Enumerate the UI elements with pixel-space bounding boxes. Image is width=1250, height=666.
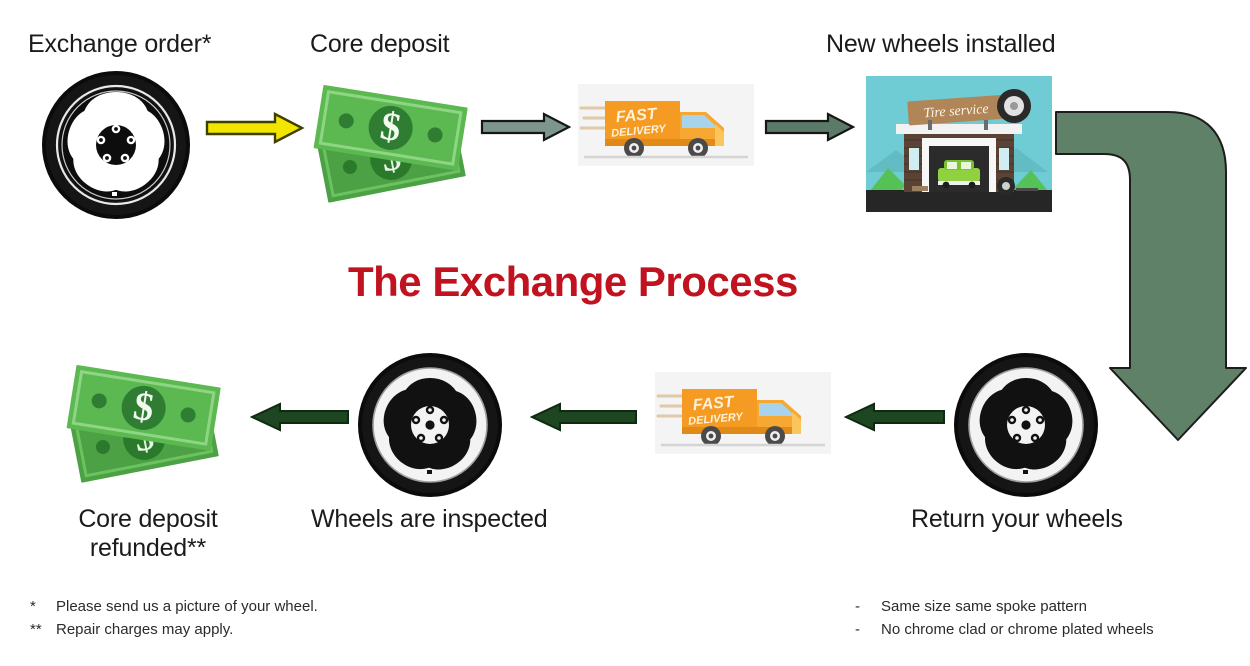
step-label-core-deposit-refunded-line2: refunded**: [38, 534, 258, 563]
exchange-process-diagram: Exchange order* Core deposit New wheels …: [0, 0, 1250, 666]
footnote-left-2-text: Repair charges may apply.: [56, 618, 233, 641]
money-icon: $ $: [305, 72, 477, 209]
step-label-return-your-wheels: Return your wheels: [911, 505, 1123, 534]
footnote-right-2-mark: -: [855, 618, 881, 641]
step-label-core-deposit-refunded-line1: Core deposit: [38, 505, 258, 534]
footnote-right-2-text: No chrome clad or chrome plated wheels: [881, 618, 1154, 641]
footnotes-left: * Please send us a picture of your wheel…: [30, 595, 318, 642]
delivery-truck-icon-bottom: FAST DELIVERY: [655, 372, 831, 454]
footnote-right-2: - No chrome clad or chrome plated wheels: [855, 618, 1154, 641]
step-label-new-wheels-installed: New wheels installed: [826, 30, 1055, 59]
footnote-right-1-mark: -: [855, 595, 881, 618]
wheel-light-icon-inspected: [356, 352, 504, 498]
footnote-left-1-mark: *: [30, 595, 56, 618]
footnote-left-2-mark: **: [30, 618, 56, 641]
money-refund-icon: $ $: [58, 352, 230, 489]
tire-service-shop-icon: Tire service: [866, 76, 1052, 217]
page-title: The Exchange Process: [348, 258, 798, 306]
arrow-truck-to-inspected: [528, 402, 638, 437]
step-label-core-deposit-refunded: Core deposit refunded**: [38, 505, 258, 563]
arrow-deposit-to-truck: [480, 112, 572, 147]
step-label-wheels-are-inspected: Wheels are inspected: [311, 505, 547, 534]
step-label-exchange-order: Exchange order*: [28, 30, 211, 59]
arrow-truck-to-shop: [764, 112, 856, 147]
wheel-dark-icon: [40, 70, 192, 220]
footnote-left-1: * Please send us a picture of your wheel…: [30, 595, 318, 618]
wheel-light-icon-return: [952, 352, 1100, 498]
footnote-right-1: - Same size same spoke pattern: [855, 595, 1154, 618]
step-label-core-deposit: Core deposit: [310, 30, 449, 59]
arrow-inspected-to-refund: [248, 402, 350, 437]
footnotes-right: - Same size same spoke pattern - No chro…: [855, 595, 1154, 642]
arrow-return-to-truck: [842, 402, 946, 437]
footnote-right-1-text: Same size same spoke pattern: [881, 595, 1087, 618]
arrow-order-to-deposit: [205, 112, 305, 149]
footnote-left-2: ** Repair charges may apply.: [30, 618, 318, 641]
footnote-left-1-text: Please send us a picture of your wheel.: [56, 595, 318, 618]
delivery-truck-icon-top: FAST DELIVERY FAST: [578, 84, 754, 166]
